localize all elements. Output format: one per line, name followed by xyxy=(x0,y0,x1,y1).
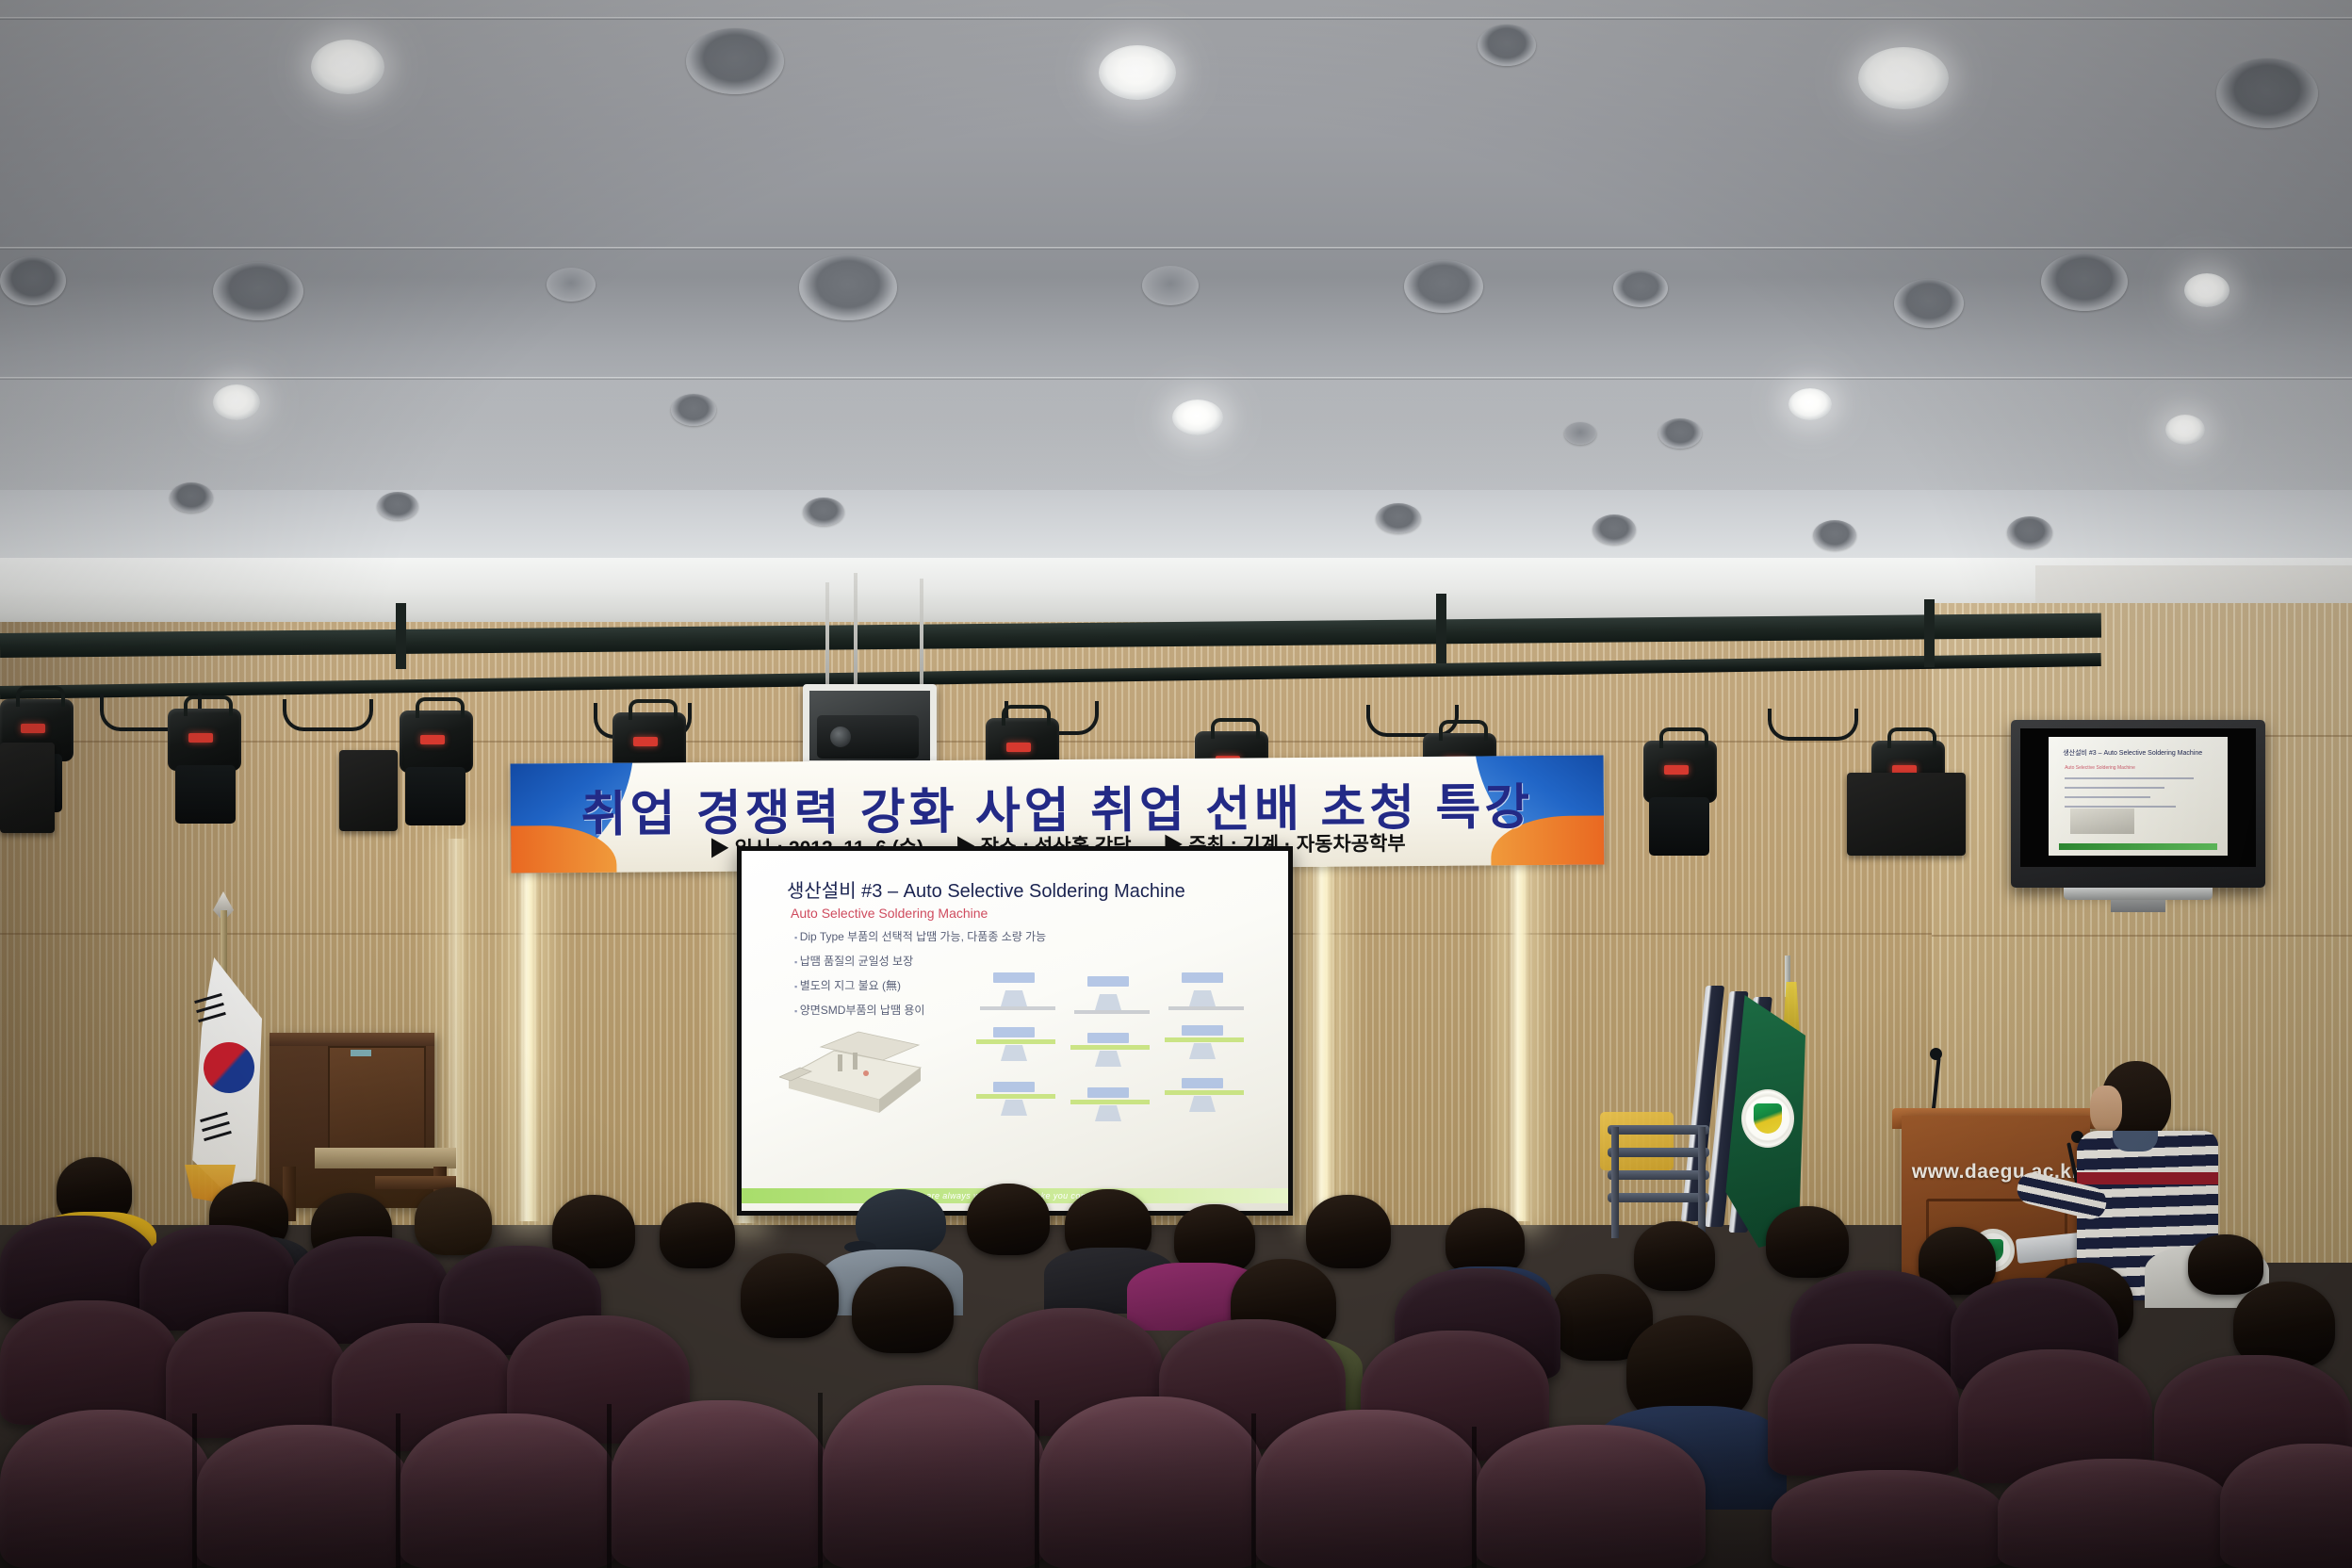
ceiling-downlight xyxy=(2216,58,2318,128)
auditorium-seat xyxy=(0,1410,213,1568)
ceiling-downlight xyxy=(0,256,66,305)
ceiling-downlight xyxy=(671,394,716,426)
ceiling-downlight xyxy=(1858,47,1949,109)
ceiling-downlight xyxy=(1172,400,1223,435)
ceiling-downlight xyxy=(1894,279,1964,328)
process-diagram-grid xyxy=(972,964,1255,1124)
audience-head xyxy=(852,1266,954,1353)
auditorium-seat xyxy=(1768,1344,1960,1476)
ceiling-downlight xyxy=(1478,24,1536,66)
ceiling-downlight xyxy=(1564,422,1596,445)
ceiling-downlight xyxy=(1813,520,1856,550)
loudspeaker xyxy=(339,750,398,831)
audience-head xyxy=(1634,1221,1715,1291)
sweater-red-stripe xyxy=(2077,1172,2218,1184)
presenter-face xyxy=(2090,1086,2122,1133)
ceiling-downlight xyxy=(170,482,213,513)
auditorium-seat xyxy=(0,1300,179,1425)
wall-accent-light xyxy=(1508,842,1532,1221)
audience-head xyxy=(741,1253,839,1338)
ceiling-downlight xyxy=(213,384,260,420)
monitor-slide-title: 생산설비 #3 – Auto Selective Soldering Machi… xyxy=(2063,748,2216,758)
ceiling-downlight xyxy=(799,254,897,320)
ceiling-projector xyxy=(803,684,937,767)
university-emblem xyxy=(1741,1089,1794,1148)
piano-nameplate xyxy=(351,1050,371,1056)
ceiling-downlight xyxy=(547,268,596,302)
audience-head xyxy=(415,1187,492,1255)
auditorium-seat xyxy=(196,1425,413,1568)
slide-subtitle: Auto Selective Soldering Machine xyxy=(791,906,988,921)
wall-accent-light xyxy=(1312,841,1336,1221)
soldering-machine-photo xyxy=(779,1019,939,1117)
ceiling-downlight xyxy=(1592,514,1636,545)
audience-cap xyxy=(856,1189,946,1257)
projection-screen: 생산설비 #3 – Auto Selective Soldering Machi… xyxy=(737,846,1293,1216)
wall-accent-light xyxy=(516,835,541,1221)
ceiling-downlight xyxy=(1658,418,1702,449)
ceiling-downlight xyxy=(2184,273,2229,307)
par-can-stage-light xyxy=(168,709,241,771)
audience-head xyxy=(1766,1206,1849,1278)
ceiling-downlight xyxy=(1376,503,1421,533)
loudspeaker xyxy=(1847,773,1966,856)
audience-head xyxy=(2188,1234,2263,1295)
auditorium-seat xyxy=(1476,1425,1706,1568)
ceiling-downlight xyxy=(1788,388,1832,420)
microphone xyxy=(1930,1048,1942,1060)
piano-front-panel xyxy=(328,1046,426,1151)
audience-head xyxy=(660,1202,735,1268)
piano-lid xyxy=(269,1033,434,1046)
ceiling-downlight xyxy=(803,498,844,526)
slide-title: 생산설비 #3 – Auto Selective Soldering Machi… xyxy=(787,875,1185,903)
auditorium-seat xyxy=(1772,1470,2005,1568)
ceiling-downlight xyxy=(311,40,384,94)
ceiling xyxy=(0,0,2352,603)
ceiling-downlight xyxy=(1099,45,1176,100)
ceiling-downlight xyxy=(377,492,418,520)
piano-keybed xyxy=(315,1148,456,1168)
ceiling-downlight xyxy=(213,262,303,320)
ceiling-downlight xyxy=(1142,266,1199,305)
ceiling-downlight xyxy=(686,28,784,94)
loudspeaker xyxy=(0,743,55,833)
presenter-collar xyxy=(2113,1131,2158,1151)
par-can-stage-light xyxy=(400,710,473,773)
lecture-hall-photo: 취업 경쟁력 강화 사업 취업 선배 초청 특강 ▶ 일시 : 2013. 11… xyxy=(0,0,2352,1568)
audience-head xyxy=(967,1184,1050,1255)
auditorium-seat xyxy=(1038,1396,1265,1568)
monitor-bezel-base xyxy=(2064,888,2213,900)
auditorium-seat xyxy=(822,1385,1046,1568)
ceiling-downlight xyxy=(2041,253,2128,311)
ceiling-downlight xyxy=(1404,260,1483,313)
stacked-chairs xyxy=(1608,1108,1713,1236)
ceiling-downlight xyxy=(2007,516,2052,548)
wall-mounted-display: 생산설비 #3 – Auto Selective Soldering Machi… xyxy=(2011,720,2265,888)
ceiling-downlight xyxy=(2165,415,2205,445)
par-can-stage-light xyxy=(1643,741,1717,803)
auditorium-seat xyxy=(400,1413,618,1568)
auditorium-seat xyxy=(611,1400,831,1568)
auditorium-seat xyxy=(1998,1459,2233,1568)
auditorium-seat xyxy=(1255,1410,1483,1568)
ceiling-downlight xyxy=(1613,269,1668,307)
monitor-slide-subtitle: Auto Selective Soldering Machine xyxy=(2065,765,2135,771)
audience-head xyxy=(1306,1195,1391,1268)
slide-bullet: Dip Type 부품의 선택적 납땜 가능, 다품종 소량 가능 xyxy=(794,928,1105,944)
